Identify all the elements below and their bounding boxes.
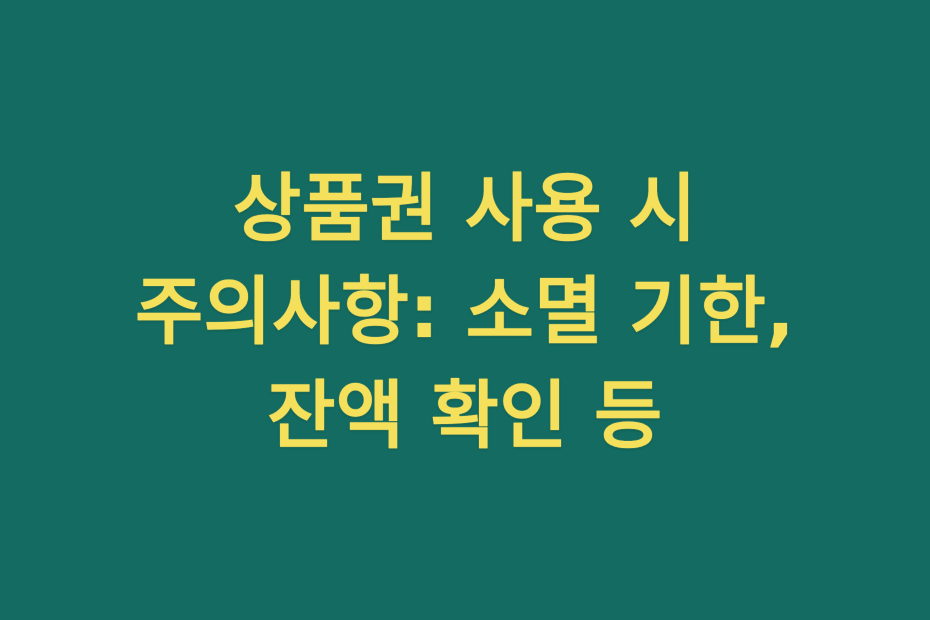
- poster-canvas: 상품권 사용 시 주의사항: 소멸 기한, 잔액 확인 등: [0, 0, 930, 620]
- page-title: 상품권 사용 시 주의사항: 소멸 기한, 잔액 확인 등: [85, 158, 845, 469]
- headline-block: 상품권 사용 시 주의사항: 소멸 기한, 잔액 확인 등: [85, 152, 845, 469]
